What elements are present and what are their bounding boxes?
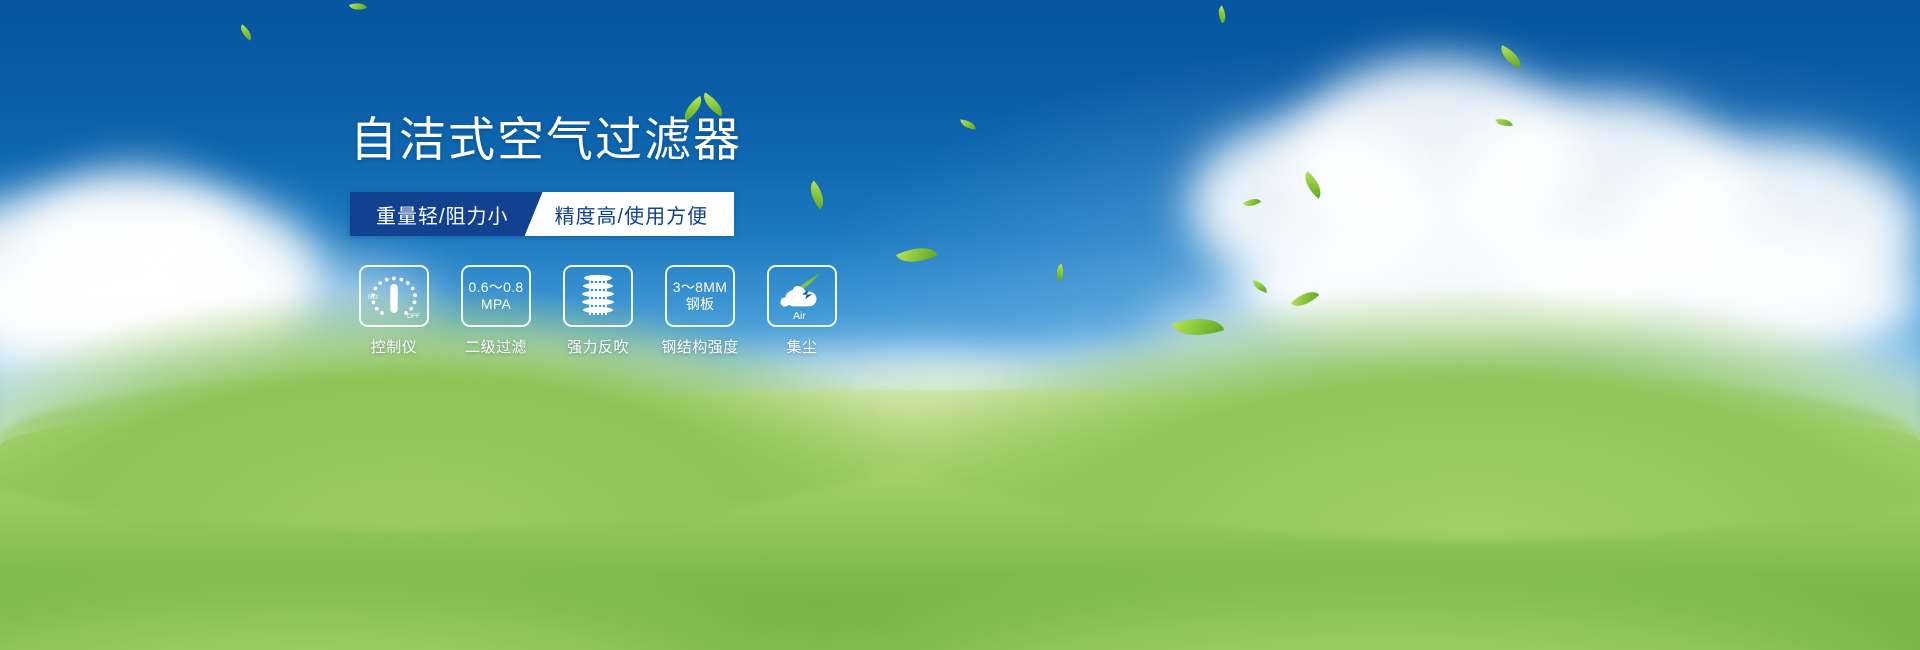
badge-lightweight-low-resistance[interactable]: 重量轻/阻力小 [350, 192, 543, 236]
badge-high-precision-easy-use[interactable]: 精度高/使用方便 [525, 192, 735, 236]
feature-label-two-stage-filter: 二级过滤 [465, 336, 527, 357]
steel-plate-icon: 3～8MM 钢板 [673, 279, 727, 313]
feature-item-dust-collection[interactable]: Air 集尘 [764, 265, 840, 357]
feature-item-steel-strength[interactable]: 3～8MM 钢板 钢结构强度 [662, 265, 738, 357]
svg-text:NO: NO [368, 294, 378, 301]
feature-box-reverse-blow [563, 265, 633, 327]
feature-item-controller[interactable]: NO OFF 控制仪 [356, 265, 432, 357]
control-dial-icon: NO OFF [363, 270, 425, 322]
air-cloud-icon: Air [771, 269, 833, 323]
banner-content: 自洁式空气过滤器 重量轻/阻力小 精度高/使用方便 [350, 110, 870, 170]
feature-box-two-stage-filter: 0.6～0.8 MPA [461, 265, 531, 327]
air-label: Air [793, 310, 806, 322]
svg-text:OFF: OFF [407, 313, 420, 320]
sprout-leaf-icon [680, 92, 732, 122]
feature-box-controller: NO OFF [359, 265, 429, 327]
pressure-unit-line: MPA [481, 296, 511, 312]
feature-label-dust-collection: 集尘 [786, 336, 817, 357]
feature-box-steel-strength: 3～8MM 钢板 [665, 265, 735, 327]
coil-filter-icon [575, 272, 621, 320]
feature-badges: 重量轻/阻力小 精度高/使用方便 [350, 192, 734, 236]
steel-thickness-line: 3～8MM [673, 279, 727, 295]
feature-label-reverse-blow: 强力反吹 [567, 336, 629, 357]
steel-material-line: 钢板 [686, 296, 715, 312]
page-title: 自洁式空气过滤器 [350, 110, 870, 170]
feature-item-two-stage-filter[interactable]: 0.6～0.8 MPA 二级过滤 [458, 265, 534, 357]
product-banner: 自洁式空气过滤器 重量轻/阻力小 精度高/使用方便 [0, 0, 1920, 650]
feature-label-steel-strength: 钢结构强度 [661, 336, 739, 357]
feature-item-reverse-blow[interactable]: 强力反吹 [560, 265, 636, 357]
pressure-range-line: 0.6～0.8 [468, 279, 523, 295]
feature-box-dust-collection: Air [767, 265, 837, 327]
feature-label-controller: 控制仪 [371, 336, 418, 357]
pressure-value-icon: 0.6～0.8 MPA [468, 279, 523, 313]
feature-icon-list: NO OFF 控制仪 0.6～0.8 MPA 二级过滤 [356, 265, 840, 357]
